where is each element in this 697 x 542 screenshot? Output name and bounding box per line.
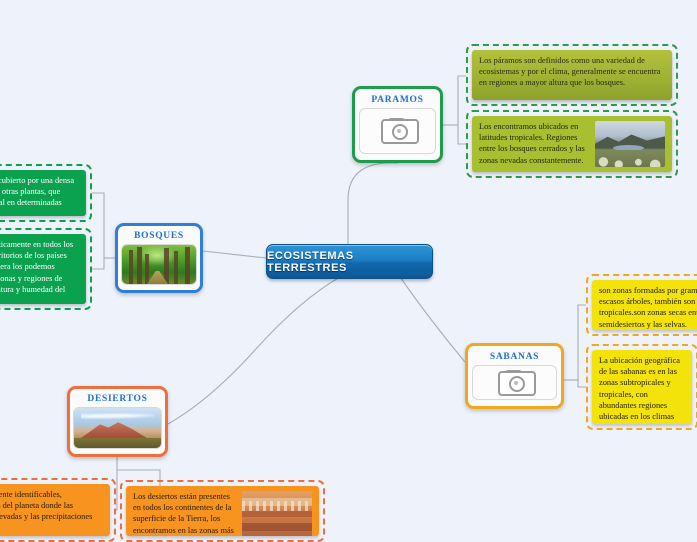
note-text: Un bosque es un lugar cubierto por una d… <box>0 175 79 216</box>
mindmap-canvas: ECOSISTEMAS TERRESTRES PARAMOS BOSQUES <box>0 0 697 520</box>
note-text: Los bosques están prácticamente en todos… <box>0 239 79 304</box>
note-text: Los desiertos son fácilmente identificab… <box>0 489 103 534</box>
note-paramos-location[interactable]: Los encontramos ubicados en latitudes tr… <box>466 110 678 178</box>
camera-placeholder-icon <box>381 118 415 144</box>
media-frame-sabanas[interactable] <box>472 365 557 400</box>
note-paramos-definition[interactable]: Los páramos son definidos como una varie… <box>466 44 678 106</box>
topic-title-paramos: PARAMOS <box>371 95 423 105</box>
note-text: Los páramos son definidos como una varie… <box>479 55 665 89</box>
note-desiertos-definition[interactable]: Los desiertos son fácilmente identificab… <box>0 478 116 542</box>
media-frame-bosques[interactable] <box>121 244 197 285</box>
topic-node-desiertos[interactable]: DESIERTOS <box>67 386 168 457</box>
note-sabanas-location[interactable]: La ubicación geográfica de las sabanas e… <box>586 344 697 430</box>
topic-title-sabanas: SABANAS <box>490 352 539 362</box>
note-bosques-definition[interactable]: Un bosque es un lugar cubierto por una d… <box>0 164 92 222</box>
media-frame-paramos[interactable] <box>359 108 436 154</box>
central-topic-node[interactable]: ECOSISTEMAS TERRESTRES <box>266 244 433 279</box>
paramo-landscape-photo <box>595 121 665 167</box>
note-sabanas-definition[interactable]: son zonas formadas por gramíneas o hierb… <box>586 274 697 336</box>
central-topic-label: ECOSISTEMAS TERRESTRES <box>267 250 432 274</box>
forest-photo <box>122 245 196 284</box>
desert-mountain-photo <box>74 408 161 448</box>
media-frame-desiertos[interactable] <box>73 407 162 449</box>
note-bosques-distribution[interactable]: Los bosques están prácticamente en todos… <box>0 228 92 310</box>
topic-title-bosques: BOSQUES <box>134 231 184 241</box>
note-desiertos-distribution[interactable]: Los desiertos están presentes en todos l… <box>120 480 325 542</box>
note-text: Los encontramos ubicados en latitudes tr… <box>479 121 589 166</box>
note-text: La ubicación geográfica de las sabanas e… <box>599 355 685 424</box>
desert-canyon-photo <box>242 491 312 536</box>
camera-placeholder-icon <box>498 370 532 396</box>
note-text: son zonas formadas por gramíneas o hierb… <box>599 285 697 330</box>
topic-node-bosques[interactable]: BOSQUES <box>115 223 203 293</box>
topic-node-sabanas[interactable]: SABANAS <box>465 343 564 409</box>
topic-node-paramos[interactable]: PARAMOS <box>352 86 443 163</box>
topic-title-desiertos: DESIERTOS <box>87 394 147 404</box>
note-text: Los desiertos están presentes en todos l… <box>133 491 236 536</box>
